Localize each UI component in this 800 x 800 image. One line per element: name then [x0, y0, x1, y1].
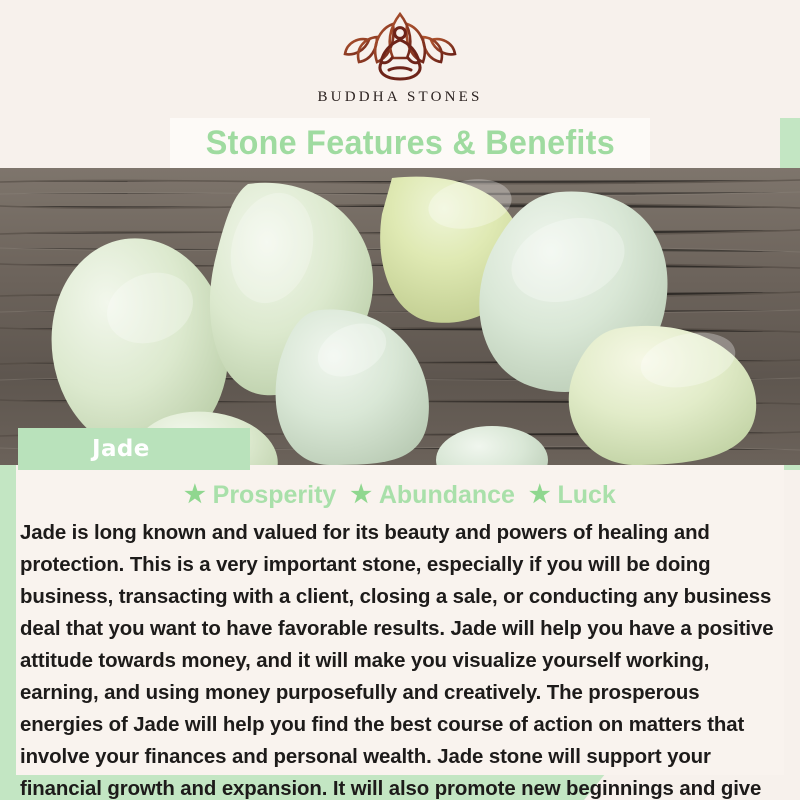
- description-panel: ★ Prosperity ★ Abundance ★ Luck Jade is …: [16, 465, 784, 775]
- decorative-band-left-lower: [0, 465, 16, 775]
- benefit-label: Abundance: [379, 481, 515, 510]
- lotus-meditation-icon: [325, 10, 475, 87]
- description-text: Jade is long known and valued for its be…: [20, 517, 778, 800]
- benefit-luck: ★ Luck: [529, 481, 616, 510]
- benefit-label: Prosperity: [213, 481, 337, 510]
- page-title: Stone Features & Benefits: [205, 124, 614, 163]
- brand-name: BUDDHA STONES: [317, 89, 482, 106]
- stone-photo: [0, 168, 800, 465]
- stone-name-band: Jade: [18, 428, 250, 470]
- brand-header: BUDDHA STONES: [0, 0, 800, 118]
- benefit-label: Luck: [557, 481, 615, 510]
- infographic-card: BUDDHA STONES Stone Features & Benefits: [0, 0, 800, 800]
- star-icon: ★: [529, 483, 551, 507]
- stone-name: Jade: [92, 436, 150, 462]
- star-icon: ★: [184, 483, 206, 507]
- benefit-abundance: ★ Abundance: [350, 481, 515, 510]
- benefits-row: ★ Prosperity ★ Abundance ★ Luck: [16, 465, 784, 515]
- title-banner: Stone Features & Benefits: [170, 118, 650, 168]
- benefit-prosperity: ★ Prosperity: [184, 481, 336, 510]
- star-icon: ★: [350, 483, 372, 507]
